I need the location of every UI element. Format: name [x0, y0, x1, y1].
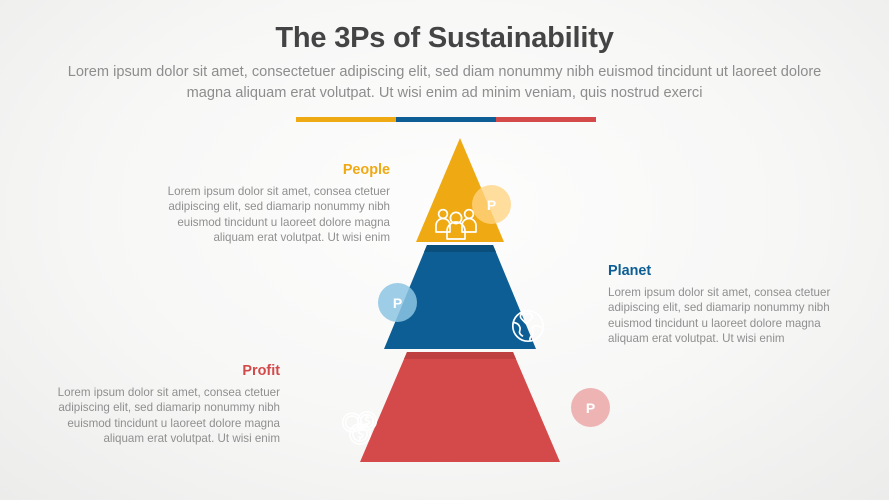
section-profit: Profit Lorem ipsum dolor sit amet, conse…	[40, 363, 280, 447]
section-profit-title: Profit	[40, 363, 280, 379]
section-planet-body: Lorem ipsum dolor sit amet, consea ctetu…	[608, 285, 848, 347]
pyramid-layer-profit[interactable]	[360, 352, 560, 462]
divider-segment-people	[296, 117, 396, 122]
page-subtitle: Lorem ipsum dolor sit amet, consectetuer…	[50, 62, 839, 104]
badge-profit[interactable]: P	[571, 388, 610, 427]
section-people-body: Lorem ipsum dolor sit amet, consea ctetu…	[150, 184, 390, 246]
pyramid-layer-planet-shadow	[424, 245, 496, 252]
tricolor-divider	[296, 117, 596, 122]
slide-canvas: The 3Ps of Sustainability Lorem ipsum do…	[0, 0, 889, 500]
section-planet: Planet Lorem ipsum dolor sit amet, conse…	[608, 263, 848, 347]
page-title: The 3Ps of Sustainability	[0, 22, 889, 55]
divider-segment-planet	[396, 117, 496, 122]
section-planet-title: Planet	[608, 263, 848, 279]
section-profit-body: Lorem ipsum dolor sit amet, consea ctetu…	[40, 385, 280, 447]
section-people: People Lorem ipsum dolor sit amet, conse…	[150, 162, 390, 246]
badge-people[interactable]: P	[472, 185, 511, 224]
divider-segment-profit	[496, 117, 596, 122]
pyramid-layer-profit-shadow	[404, 352, 516, 359]
badge-planet[interactable]: P	[378, 283, 417, 322]
section-people-title: People	[150, 162, 390, 178]
